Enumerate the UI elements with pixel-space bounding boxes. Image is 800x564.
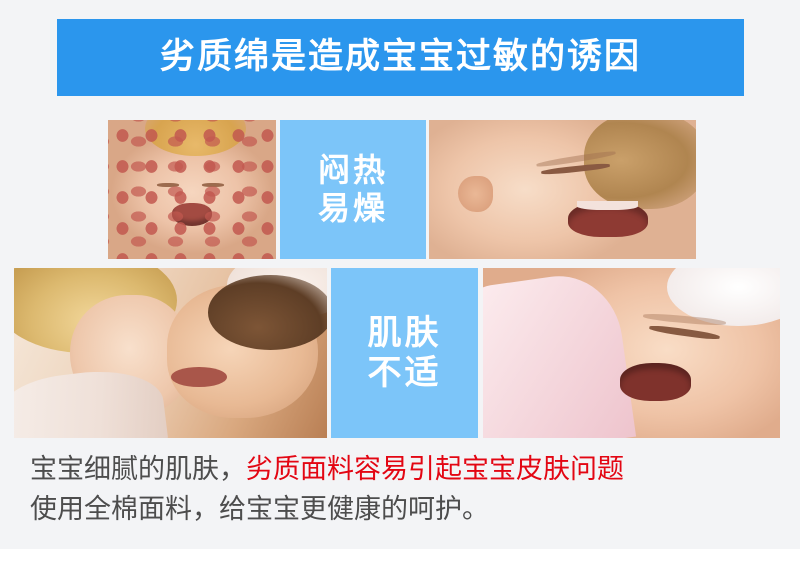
mouth-shape	[568, 201, 648, 237]
crying-baby-artwork	[429, 120, 696, 259]
label-skin-line-2: 不适	[368, 353, 442, 393]
baby-mouth-shape	[171, 367, 227, 387]
crying-baby-photo	[429, 120, 696, 259]
mother-kissing-baby-photo	[14, 268, 327, 438]
baby-with-rash-artwork	[108, 120, 276, 259]
caption-line-1-emphasis: 劣质面料容易引起宝宝皮肤问题	[246, 454, 624, 485]
caption-block: 宝宝细腻的肌肤，劣质面料容易引起宝宝皮肤问题 使用全棉面料，给宝宝更健康的呵护。	[30, 450, 775, 530]
eye-shape	[649, 324, 721, 341]
ear-shape	[458, 176, 493, 212]
baby-in-pink-artwork	[483, 268, 780, 438]
mouth-shape	[620, 363, 691, 400]
label-heat: 闷热 易燥	[280, 120, 426, 259]
caption-line-1-normal: 宝宝细腻的肌肤，	[30, 454, 246, 485]
caption-line-1: 宝宝细腻的肌肤，劣质面料容易引起宝宝皮肤问题	[30, 450, 775, 490]
caption-line-2: 使用全棉面料，给宝宝更健康的呵护。	[30, 490, 775, 530]
label-skin: 肌肤 不适	[331, 268, 478, 438]
label-heat-line-2: 易燥	[318, 190, 388, 228]
baby-hair-shape	[208, 275, 327, 350]
pink-clothing-shape	[483, 268, 637, 438]
header-banner: 劣质绵是造成宝宝过敏的诱因	[57, 19, 744, 96]
baby-with-rash-photo	[108, 120, 276, 259]
rash-dots-overlay-secondary	[108, 120, 276, 259]
label-skin-line-1: 肌肤	[368, 313, 442, 353]
label-heat-line-1: 闷热	[318, 152, 388, 190]
baby-in-pink-photo	[483, 268, 780, 438]
mother-kissing-baby-artwork	[14, 268, 327, 438]
product-detail-page: 劣质绵是造成宝宝过敏的诱因 闷热 易燥	[0, 0, 800, 564]
bottom-white-strip	[0, 549, 800, 564]
banner-title: 劣质绵是造成宝宝过敏的诱因	[160, 40, 641, 75]
